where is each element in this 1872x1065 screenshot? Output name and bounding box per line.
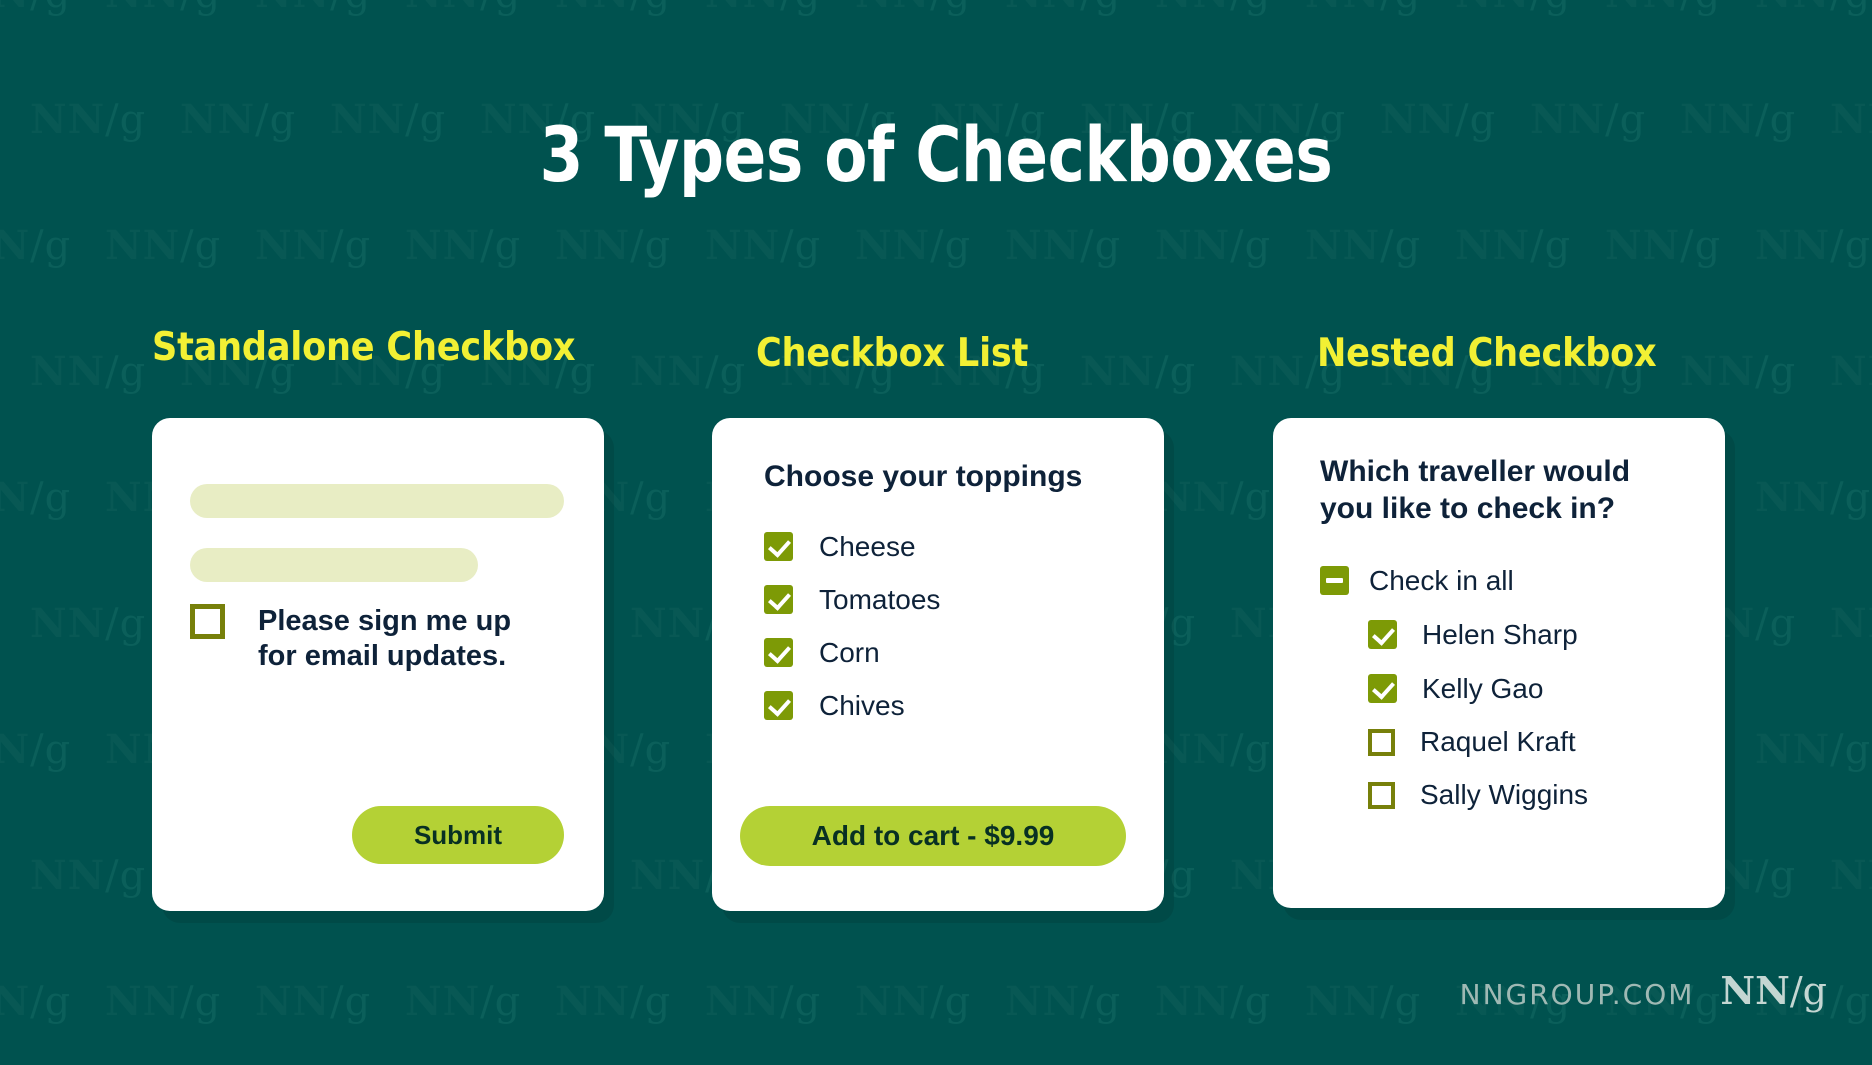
submit-button[interactable]: Submit xyxy=(352,806,564,864)
checkbox-parent-row[interactable]: Check in all xyxy=(1320,566,1514,595)
traveller-label: Raquel Kraft xyxy=(1420,728,1576,756)
checkbox-checked-icon[interactable] xyxy=(764,585,793,614)
list-item[interactable]: Raquel Kraft xyxy=(1368,728,1588,756)
placeholder-bar-2 xyxy=(190,548,478,582)
logo-nn-text: NN xyxy=(1720,968,1789,1013)
traveller-label: Kelly Gao xyxy=(1422,675,1543,703)
footer-website-url: NNGROUP.COM xyxy=(1460,978,1695,1011)
checkbox-unchecked-icon[interactable] xyxy=(1368,729,1395,756)
card-checkbox-list: Choose your toppings Cheese Tomatoes Cor… xyxy=(712,418,1164,911)
checkbox-indeterminate-icon[interactable] xyxy=(1320,566,1349,595)
list-item[interactable]: Kelly Gao xyxy=(1368,674,1588,703)
toppings-option-list: Cheese Tomatoes Corn Chives xyxy=(764,532,940,720)
option-label: Tomatoes xyxy=(819,586,940,614)
traveller-option-list: Helen Sharp Kelly Gao Raquel Kraft Sally… xyxy=(1368,620,1588,809)
option-label: Cheese xyxy=(819,533,916,561)
checkbox-unchecked-icon[interactable] xyxy=(190,604,225,639)
list-item[interactable]: Corn xyxy=(764,638,940,667)
traveller-label: Sally Wiggins xyxy=(1420,781,1588,809)
footer: NNGROUP.COM NN/g xyxy=(1460,968,1827,1013)
list-item[interactable]: Helen Sharp xyxy=(1368,620,1588,649)
checkbox-checked-icon[interactable] xyxy=(1368,620,1397,649)
traveller-label: Helen Sharp xyxy=(1422,621,1578,649)
signup-checkbox-row[interactable]: Please sign me up for email updates. xyxy=(190,604,548,674)
list-item[interactable]: Cheese xyxy=(764,532,940,561)
placeholder-bar-1 xyxy=(190,484,564,518)
column-heading-checkbox-list: Checkbox List xyxy=(756,331,1028,376)
column-heading-standalone: Standalone Checkbox xyxy=(152,325,575,370)
checkbox-checked-icon[interactable] xyxy=(764,691,793,720)
parent-checkbox-label: Check in all xyxy=(1369,567,1514,595)
checkbox-checked-icon[interactable] xyxy=(764,638,793,667)
nng-logo: NN/g xyxy=(1720,968,1827,1013)
logo-g-text: g xyxy=(1803,969,1827,1013)
add-to-cart-button[interactable]: Add to cart - $9.99 xyxy=(740,806,1126,866)
list-item[interactable]: Tomatoes xyxy=(764,585,940,614)
column-heading-nested: Nested Checkbox xyxy=(1317,331,1656,376)
option-label: Corn xyxy=(819,639,880,667)
card-standalone-checkbox: Please sign me up for email updates. Sub… xyxy=(152,418,604,911)
checkbox-checked-icon[interactable] xyxy=(1368,674,1397,703)
checkbox-unchecked-icon[interactable] xyxy=(1368,782,1395,809)
card-nested-checkbox: Which traveller would you like to check … xyxy=(1273,418,1725,908)
signup-checkbox-label: Please sign me up for email updates. xyxy=(258,604,548,674)
list-item[interactable]: Sally Wiggins xyxy=(1368,781,1588,809)
page-title: 3 Types of Checkboxes xyxy=(75,110,1797,199)
infographic-page: 3 Types of Checkboxes Standalone Checkbo… xyxy=(0,0,1872,1065)
traveller-question: Which traveller would you like to check … xyxy=(1320,454,1665,527)
list-item[interactable]: Chives xyxy=(764,691,940,720)
logo-slash-text: / xyxy=(1790,969,1803,1013)
option-label: Chives xyxy=(819,692,905,720)
toppings-question: Choose your toppings xyxy=(764,460,1082,494)
checkbox-checked-icon[interactable] xyxy=(764,532,793,561)
